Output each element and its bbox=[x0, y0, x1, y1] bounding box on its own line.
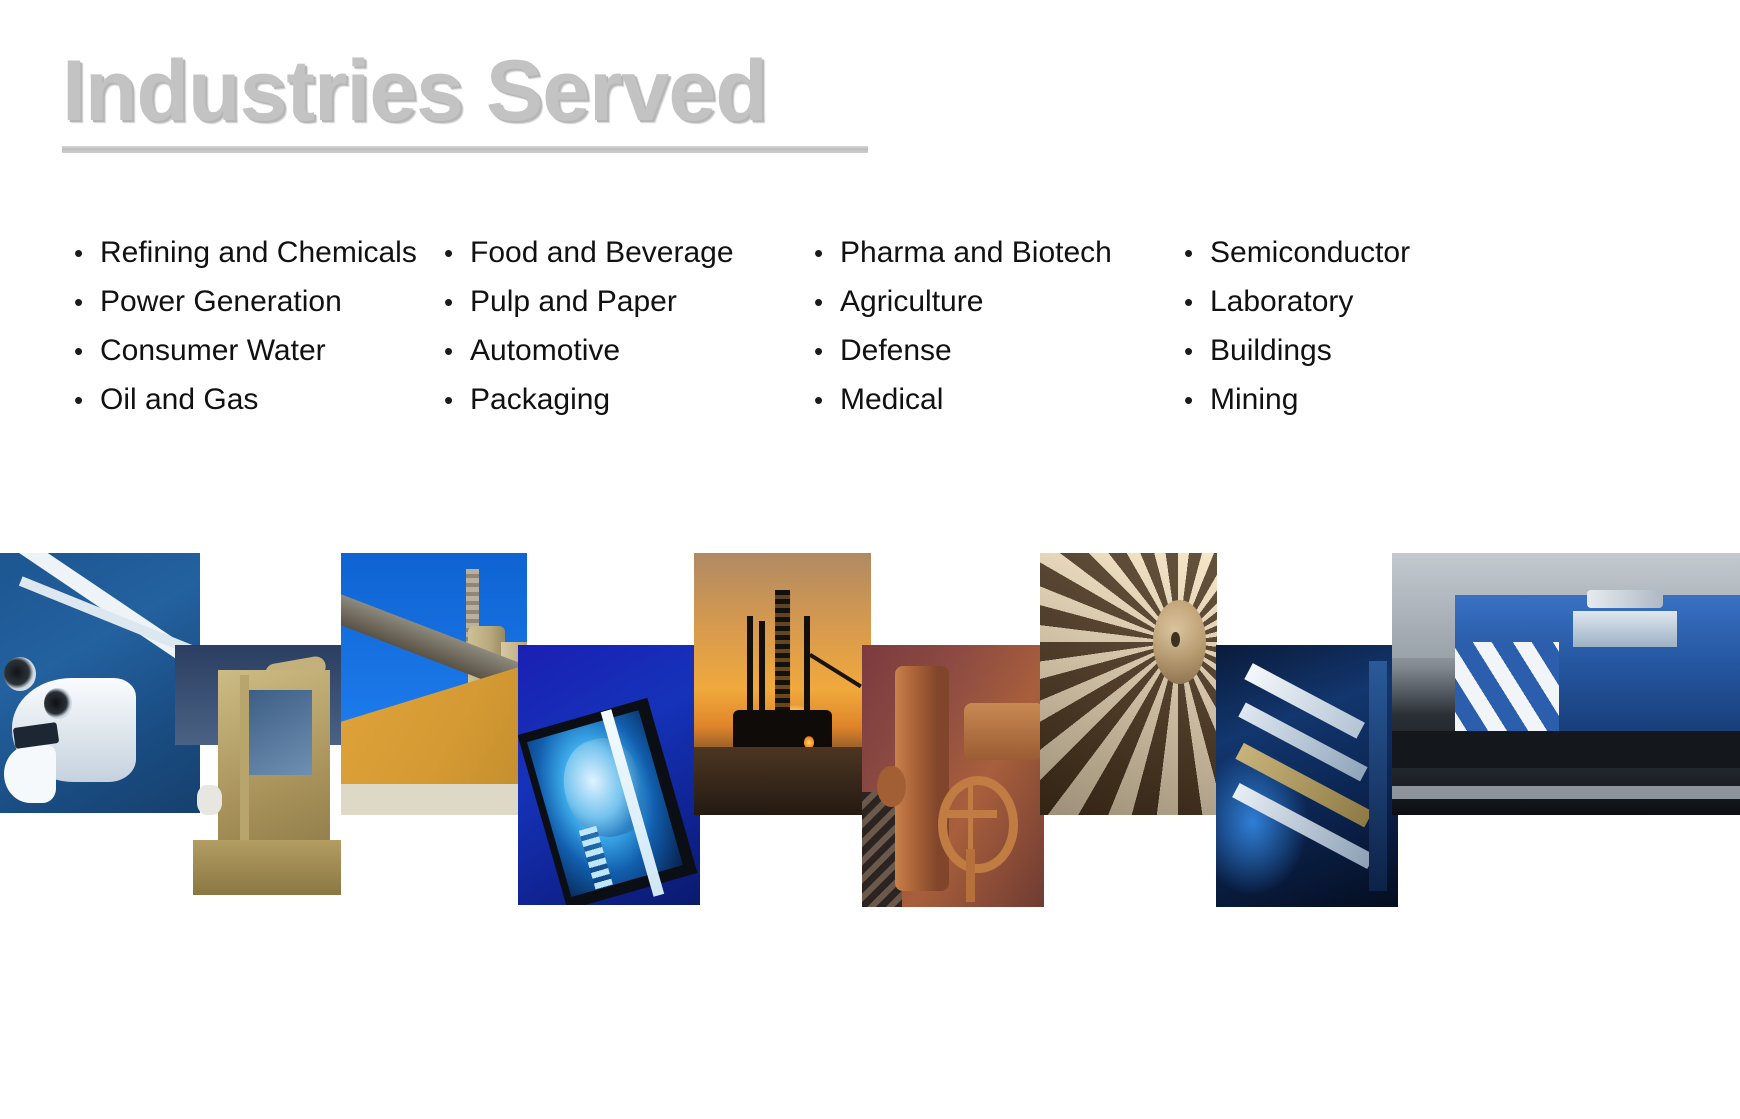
bullet-icon: • bbox=[1180, 338, 1210, 364]
bullet-icon: • bbox=[1180, 289, 1210, 315]
industry-label: Refining and Chemicals bbox=[100, 236, 417, 270]
bullet-icon: • bbox=[440, 289, 470, 315]
industry-label: Laboratory bbox=[1210, 285, 1353, 319]
list-item: • Semiconductor bbox=[1180, 236, 1550, 285]
list-item: • Automotive bbox=[440, 334, 810, 383]
industry-column-4: • Semiconductor • Laboratory • Buildings… bbox=[1180, 236, 1550, 432]
industry-label: Power Generation bbox=[100, 285, 342, 319]
bullet-icon: • bbox=[70, 387, 100, 413]
bullet-icon: • bbox=[70, 338, 100, 364]
industry-column-3: • Pharma and Biotech • Agriculture • Def… bbox=[810, 236, 1180, 432]
industry-column-2: • Food and Beverage • Pulp and Paper • A… bbox=[440, 236, 810, 432]
industry-photo-strip bbox=[0, 520, 1740, 1119]
bullet-icon: • bbox=[810, 387, 840, 413]
bullet-icon: • bbox=[70, 240, 100, 266]
page-title: Industries Served bbox=[62, 48, 872, 134]
industry-label: Agriculture bbox=[840, 285, 983, 319]
industry-label: Pulp and Paper bbox=[470, 285, 677, 319]
title-underline-rule bbox=[62, 146, 868, 153]
construction-vehicle-photo bbox=[175, 645, 355, 895]
bullet-icon: • bbox=[440, 338, 470, 364]
industry-label: Consumer Water bbox=[100, 334, 326, 368]
bullet-icon: • bbox=[440, 387, 470, 413]
list-item: • Pulp and Paper bbox=[440, 285, 810, 334]
list-item: • Refining and Chemicals bbox=[70, 236, 440, 285]
industry-label: Buildings bbox=[1210, 334, 1332, 368]
list-item: • Defense bbox=[810, 334, 1180, 383]
list-item: • Packaging bbox=[440, 383, 810, 432]
list-item: • Oil and Gas bbox=[70, 383, 440, 432]
industry-label: Food and Beverage bbox=[470, 236, 734, 270]
industry-label: Medical bbox=[840, 383, 943, 417]
industry-label: Defense bbox=[840, 334, 952, 368]
bullet-icon: • bbox=[810, 240, 840, 266]
list-item: • Pharma and Biotech bbox=[810, 236, 1180, 285]
bullet-icon: • bbox=[810, 338, 840, 364]
industry-label: Pharma and Biotech bbox=[840, 236, 1112, 270]
bullet-icon: • bbox=[1180, 387, 1210, 413]
industry-label: Automotive bbox=[470, 334, 620, 368]
list-item: • Buildings bbox=[1180, 334, 1550, 383]
oil-rig-sunset-photo bbox=[694, 553, 871, 815]
page-title-block: Industries Served bbox=[62, 48, 872, 153]
industry-label: Semiconductor bbox=[1210, 236, 1410, 270]
list-item: • Food and Beverage bbox=[440, 236, 810, 285]
semiconductor-machinery-photo bbox=[1216, 645, 1398, 907]
industry-column-1: • Refining and Chemicals • Power Generat… bbox=[70, 236, 440, 432]
bullet-icon: • bbox=[440, 240, 470, 266]
industry-label: Mining bbox=[1210, 383, 1298, 417]
aerospace-jet-photo bbox=[0, 553, 200, 813]
bullet-icon: • bbox=[70, 289, 100, 315]
industry-label: Packaging bbox=[470, 383, 610, 417]
rail-locomotive-photo bbox=[1392, 553, 1740, 815]
list-item: • Medical bbox=[810, 383, 1180, 432]
list-item: • Consumer Water bbox=[70, 334, 440, 383]
list-item: • Mining bbox=[1180, 383, 1550, 432]
medical-xray-photo bbox=[518, 645, 700, 905]
bulk-conveyor-silo-photo bbox=[341, 553, 527, 815]
pipeline-valve-photo bbox=[862, 645, 1044, 907]
reflection-floor-fade bbox=[0, 999, 1740, 1119]
list-item: • Laboratory bbox=[1180, 285, 1550, 334]
turbine-blades-photo bbox=[1040, 553, 1217, 815]
bullet-icon: • bbox=[810, 289, 840, 315]
industry-label: Oil and Gas bbox=[100, 383, 258, 417]
industries-list: • Refining and Chemicals • Power Generat… bbox=[70, 236, 1490, 432]
bullet-icon: • bbox=[1180, 240, 1210, 266]
list-item: • Power Generation bbox=[70, 285, 440, 334]
list-item: • Agriculture bbox=[810, 285, 1180, 334]
